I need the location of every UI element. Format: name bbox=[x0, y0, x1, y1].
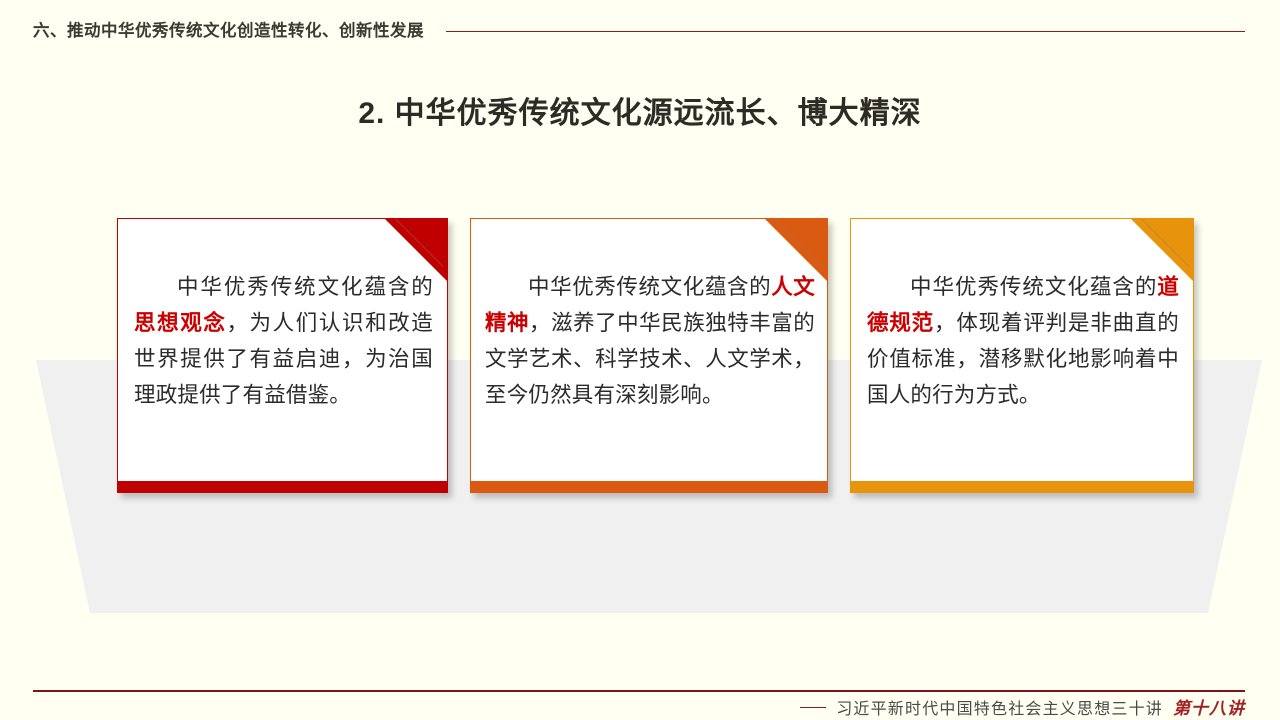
card-text-before: 中华优秀传统文化蕴含的 bbox=[910, 275, 1157, 299]
card-paragraph: 中华优秀传统文化蕴含的道德规范，体现着评判是非曲直的价值标准，潜移默化地影响着中… bbox=[851, 269, 1193, 413]
card-body: 中华优秀传统文化蕴含的道德规范，体现着评判是非曲直的价值标准，潜移默化地影响着中… bbox=[850, 218, 1194, 482]
footer-rule bbox=[33, 690, 1245, 692]
content-card-1[interactable]: 中华优秀传统文化蕴含的思想观念，为人们认识和改造世界提供了有益启迪，为治国理政提… bbox=[117, 218, 448, 493]
section-label: 六、推动中华优秀传统文化创造性转化、创新性发展 bbox=[33, 17, 424, 41]
header-rule bbox=[446, 31, 1245, 32]
footer-series-title: 习近平新时代中国特色社会主义思想三十讲 bbox=[836, 695, 1163, 719]
footer: 习近平新时代中国特色社会主义思想三十讲 第十八讲 bbox=[800, 694, 1245, 719]
footer-lecture-number: 第十八讲 bbox=[1173, 694, 1245, 719]
card-bottom-bar bbox=[470, 482, 828, 493]
card-text-after: ，滋养了中华民族独特丰富的文学艺术、科学技术、人文学术，至今仍然具有深刻影响。 bbox=[485, 311, 815, 407]
footer-dash-icon bbox=[800, 707, 826, 708]
card-body: 中华优秀传统文化蕴含的思想观念，为人们认识和改造世界提供了有益启迪，为治国理政提… bbox=[117, 218, 448, 482]
page-title: 2. 中华优秀传统文化源远流长、博大精深 bbox=[0, 88, 1280, 132]
content-card-2[interactable]: 中华优秀传统文化蕴含的人文精神，滋养了中华民族独特丰富的文学艺术、科学技术、人文… bbox=[470, 218, 828, 493]
card-bottom-bar bbox=[850, 482, 1194, 493]
card-bottom-bar bbox=[117, 482, 448, 493]
slide-header: 六、推动中华优秀传统文化创造性转化、创新性发展 bbox=[0, 12, 1280, 46]
card-body: 中华优秀传统文化蕴含的人文精神，滋养了中华民族独特丰富的文学艺术、科学技术、人文… bbox=[470, 218, 828, 482]
card-keyword: 思想观念 bbox=[134, 311, 226, 335]
card-text-before: 中华优秀传统文化蕴含的 bbox=[177, 275, 433, 299]
content-card-3[interactable]: 中华优秀传统文化蕴含的道德规范，体现着评判是非曲直的价值标准，潜移默化地影响着中… bbox=[850, 218, 1194, 493]
card-paragraph: 中华优秀传统文化蕴含的思想观念，为人们认识和改造世界提供了有益启迪，为治国理政提… bbox=[118, 269, 447, 413]
card-paragraph: 中华优秀传统文化蕴含的人文精神，滋养了中华民族独特丰富的文学艺术、科学技术、人文… bbox=[471, 269, 827, 413]
card-group: 中华优秀传统文化蕴含的思想观念，为人们认识和改造世界提供了有益启迪，为治国理政提… bbox=[0, 218, 1280, 498]
card-text-before: 中华优秀传统文化蕴含的 bbox=[528, 275, 771, 299]
